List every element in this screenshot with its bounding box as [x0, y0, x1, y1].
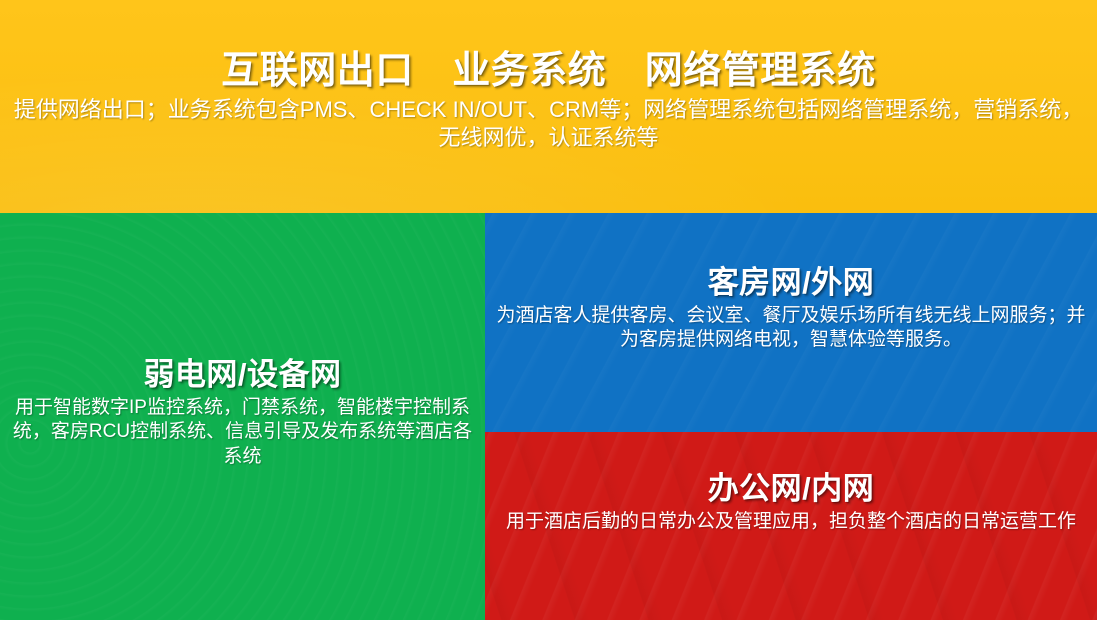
guest-room-network-description: 为酒店客人提供客房、会议室、餐厅及娱乐场所有线无线上网服务；并为客房提供网络电视…: [485, 304, 1097, 353]
guest-room-network-text-block: 客房网/外网 为酒店客人提供客房、会议室、餐厅及娱乐场所有线无线上网服务；并为客…: [485, 266, 1097, 353]
weak-current-network-description: 用于智能数字IP监控系统，门禁系统，智能楼宇控制系统，客房RCU控制系统、信息引…: [0, 396, 485, 470]
weak-current-network-text-block: 弱电网/设备网 用于智能数字IP监控系统，门禁系统，智能楼宇控制系统，客房RCU…: [0, 358, 485, 470]
guest-room-network-title: 客房网/外网: [485, 266, 1097, 301]
header-title: 互联网出口 业务系统 网络管理系统: [0, 50, 1097, 93]
office-network-title: 办公网/内网: [485, 472, 1097, 507]
office-network-description: 用于酒店后勤的日常办公及管理应用，担负整个酒店的日常运营工作: [485, 510, 1097, 535]
weak-current-network-title: 弱电网/设备网: [0, 358, 485, 393]
header-text-block: 互联网出口 业务系统 网络管理系统 提供网络出口；业务系统包含PMS、CHECK…: [0, 50, 1097, 153]
network-architecture-slide: 互联网出口 业务系统 网络管理系统 提供网络出口；业务系统包含PMS、CHECK…: [0, 0, 1097, 622]
header-description: 提供网络出口；业务系统包含PMS、CHECK IN/OUT、CRM等；网络管理系…: [0, 96, 1097, 153]
office-network-text-block: 办公网/内网 用于酒店后勤的日常办公及管理应用，担负整个酒店的日常运营工作: [485, 472, 1097, 534]
